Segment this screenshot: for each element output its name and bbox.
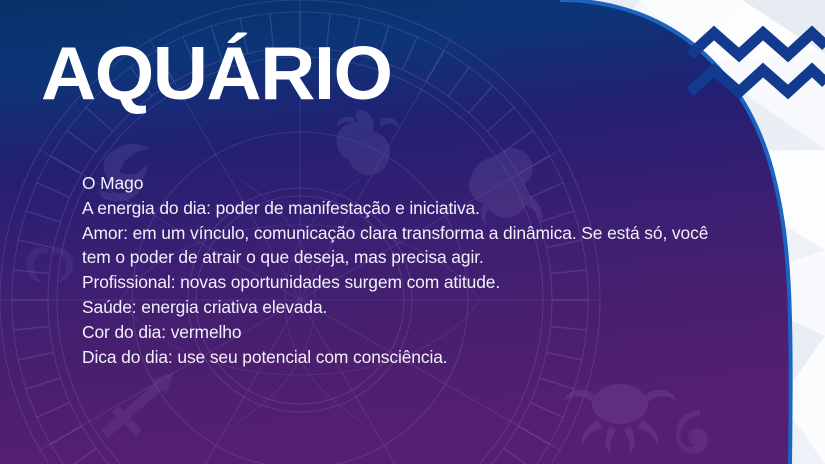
aquarius-glyph-icon xyxy=(0,0,825,464)
horoscope-card: AQUÁRIO O Mago A energia do dia: poder d… xyxy=(0,0,825,464)
aquarius-wave-upper xyxy=(690,33,825,55)
aquarius-wave-lower xyxy=(690,70,825,92)
